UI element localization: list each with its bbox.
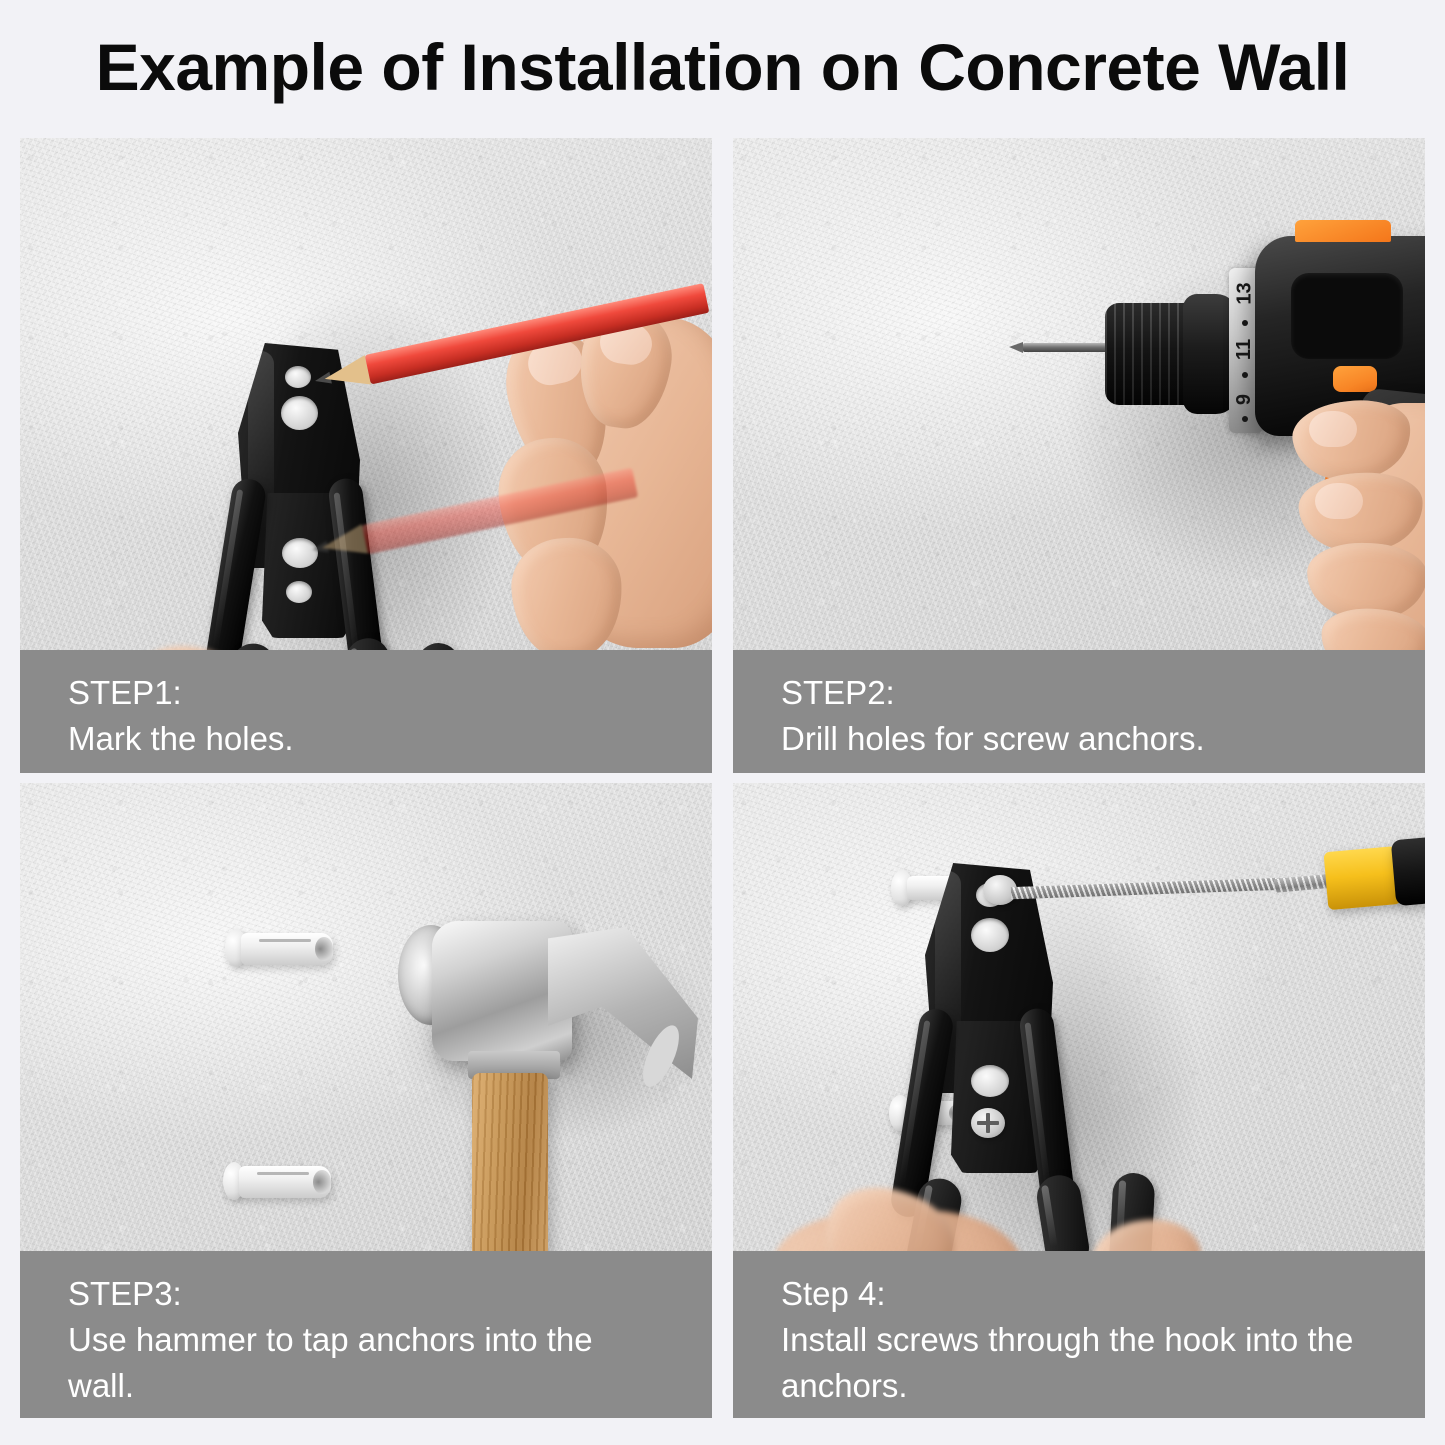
tap-anchors-scene bbox=[20, 783, 712, 1251]
step-3-text: Use hammer to tap anchors into the wall. bbox=[68, 1317, 664, 1409]
clutch-number-11: 11 bbox=[1233, 339, 1256, 360]
install-screws-scene bbox=[733, 783, 1425, 1251]
screwdriver-grip bbox=[1391, 834, 1425, 906]
hook-screw-hole-bottom bbox=[286, 581, 312, 603]
step-card-1[interactable]: STEP1: Mark the holes. bbox=[20, 138, 712, 773]
claw-hammer bbox=[380, 903, 712, 1251]
mark-holes-scene bbox=[20, 138, 712, 650]
hook-keyhole-top bbox=[281, 396, 318, 430]
step-card-4[interactable]: Step 4: Install screws through the hook … bbox=[733, 783, 1425, 1418]
step-2-caption: STEP2: Drill holes for screw anchors. bbox=[733, 650, 1425, 773]
screw-lower bbox=[971, 1108, 1011, 1142]
wall-anchor-lower bbox=[223, 1158, 333, 1208]
step-2-text: Drill holes for screw anchors. bbox=[781, 716, 1377, 762]
step-1-caption: STEP1: Mark the holes. bbox=[20, 650, 712, 773]
step-4-caption: Step 4: Install screws through the hook … bbox=[733, 1251, 1425, 1418]
step-card-3[interactable]: STEP3: Use hammer to tap anchors into th… bbox=[20, 783, 712, 1418]
hook-keyhole-top bbox=[971, 918, 1009, 952]
step-2-label: STEP2: bbox=[781, 670, 1377, 716]
hook-screw-hole-top bbox=[285, 366, 311, 388]
step-4-label: Step 4: bbox=[781, 1271, 1377, 1317]
drill-body-panel bbox=[1291, 273, 1403, 359]
step-3-caption: STEP3: Use hammer to tap anchors into th… bbox=[20, 1251, 712, 1418]
screw-shaft bbox=[1011, 877, 1311, 899]
screw-cross-slot-h bbox=[977, 1121, 999, 1125]
step-card-2[interactable]: 13 11 9 bbox=[733, 138, 1425, 773]
step-2-photo: 13 11 9 bbox=[733, 138, 1425, 650]
clutch-number-13: 13 bbox=[1234, 282, 1257, 304]
drill-holes-scene: 13 11 9 bbox=[733, 138, 1425, 650]
step-1-label: STEP1: bbox=[68, 670, 664, 716]
installation-guide-page: Example of Installation on Concrete Wall bbox=[0, 0, 1445, 1445]
finger-lower-1 bbox=[110, 631, 271, 650]
hand-holding-hook bbox=[773, 1168, 1173, 1251]
anchor-sleeve bbox=[241, 933, 333, 965]
clutch-dot-1 bbox=[1242, 320, 1248, 326]
page-title: Example of Installation on Concrete Wall bbox=[0, 28, 1445, 106]
hammer-handle bbox=[472, 1073, 548, 1251]
hand-holding-hook bbox=[70, 608, 490, 650]
step-1-photo bbox=[20, 138, 712, 650]
step-4-photo bbox=[733, 783, 1425, 1251]
hand-holding-drill bbox=[1293, 383, 1425, 650]
step-3-photo bbox=[20, 783, 712, 1251]
wall-anchor-upper bbox=[225, 925, 335, 975]
drill-bit bbox=[1023, 343, 1111, 352]
clutch-number-9: 9 bbox=[1233, 394, 1256, 405]
step-4-text: Install screws through the hook into the… bbox=[781, 1317, 1377, 1409]
steps-grid: STEP1: Mark the holes. bbox=[20, 138, 1425, 1418]
clutch-dot-2 bbox=[1242, 372, 1248, 378]
fingernail-middle bbox=[1315, 483, 1363, 519]
finger-ring bbox=[509, 535, 625, 650]
drill-top-accent bbox=[1295, 220, 1391, 242]
long-screw bbox=[983, 879, 1313, 899]
hook-keyhole-bottom bbox=[971, 1065, 1009, 1097]
clutch-dot-3 bbox=[1242, 416, 1248, 422]
fingernail-index bbox=[1309, 411, 1357, 447]
screwdriver bbox=[1269, 805, 1425, 930]
step-1-text: Mark the holes. bbox=[68, 716, 664, 762]
anchor-split bbox=[259, 939, 311, 942]
anchor-sleeve bbox=[239, 1166, 331, 1198]
step-3-label: STEP3: bbox=[68, 1271, 664, 1317]
anchor-split bbox=[257, 1172, 309, 1175]
